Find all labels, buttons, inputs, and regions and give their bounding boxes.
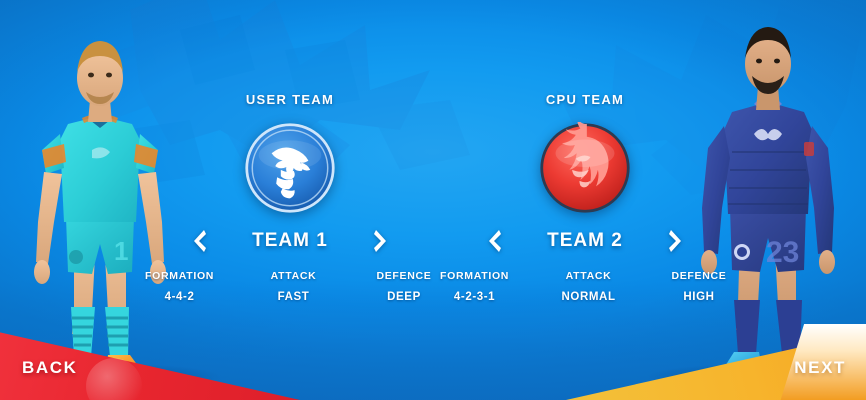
cpu-team-panel: CPU TEAM [435,92,735,303]
user-team-stats: FORMATION 4-4-2 ATTACK FAST DEFENCE DEEP [145,270,435,303]
user-team-prev-button[interactable] [190,228,208,254]
wolf-crest-icon [244,122,336,214]
cpu-team-title: CPU TEAM [546,92,624,108]
user-stat-defence: DEFENCE DEEP [373,270,435,303]
user-stat-formation-label: FORMATION [145,270,214,282]
cpu-stat-defence-value: HIGH [683,291,714,303]
user-stat-attack-label: ATTACK [271,270,317,282]
user-stat-formation: FORMATION 4-4-2 [145,270,214,303]
user-team-selector: TEAM 1 [190,226,390,256]
lion-crest-icon [539,122,631,214]
next-button-label: NEXT [794,358,846,378]
user-stat-defence-label: DEFENCE [376,270,431,282]
cpu-stat-formation: FORMATION 4-2-3-1 [440,270,509,303]
cpu-stat-attack-value: NORMAL [562,291,616,303]
svg-text:1: 1 [114,236,128,266]
cpu-stat-formation-value: 4-2-3-1 [454,291,495,303]
cpu-team-crest[interactable] [539,122,631,214]
next-button[interactable]: NEXT [566,328,866,400]
user-stat-attack-value: FAST [278,291,310,303]
cpu-team-selector: TEAM 2 [485,226,685,256]
user-team-title: USER TEAM [246,92,334,108]
chevron-right-icon [372,228,390,254]
cpu-team-next-button[interactable] [667,228,685,254]
chevron-right-icon [667,228,685,254]
back-button[interactable]: BACK [0,328,300,400]
chevron-left-icon [485,228,503,254]
cpu-team-name: TEAM 2 [503,230,667,252]
user-stat-defence-value: DEEP [387,291,421,303]
cpu-team-stats: FORMATION 4-2-3-1 ATTACK NORMAL DEFENCE … [440,270,730,303]
cpu-stat-attack-label: ATTACK [566,270,612,282]
cpu-stat-defence: DEFENCE HIGH [668,270,730,303]
back-button-label: BACK [22,358,78,378]
svg-text:23: 23 [766,236,799,269]
chevron-left-icon [190,228,208,254]
user-team-next-button[interactable] [372,228,390,254]
user-team-name: TEAM 1 [208,230,372,252]
team-select-screen: 1 [0,0,866,400]
user-team-panel: USER TEAM [140,92,440,303]
user-stat-attack: ATTACK FAST [263,270,325,303]
cpu-stat-defence-label: DEFENCE [671,270,726,282]
cpu-stat-attack: ATTACK NORMAL [558,270,620,303]
cpu-team-prev-button[interactable] [485,228,503,254]
cpu-stat-formation-label: FORMATION [440,270,509,282]
user-team-crest[interactable] [244,122,336,214]
user-stat-formation-value: 4-4-2 [165,291,195,303]
